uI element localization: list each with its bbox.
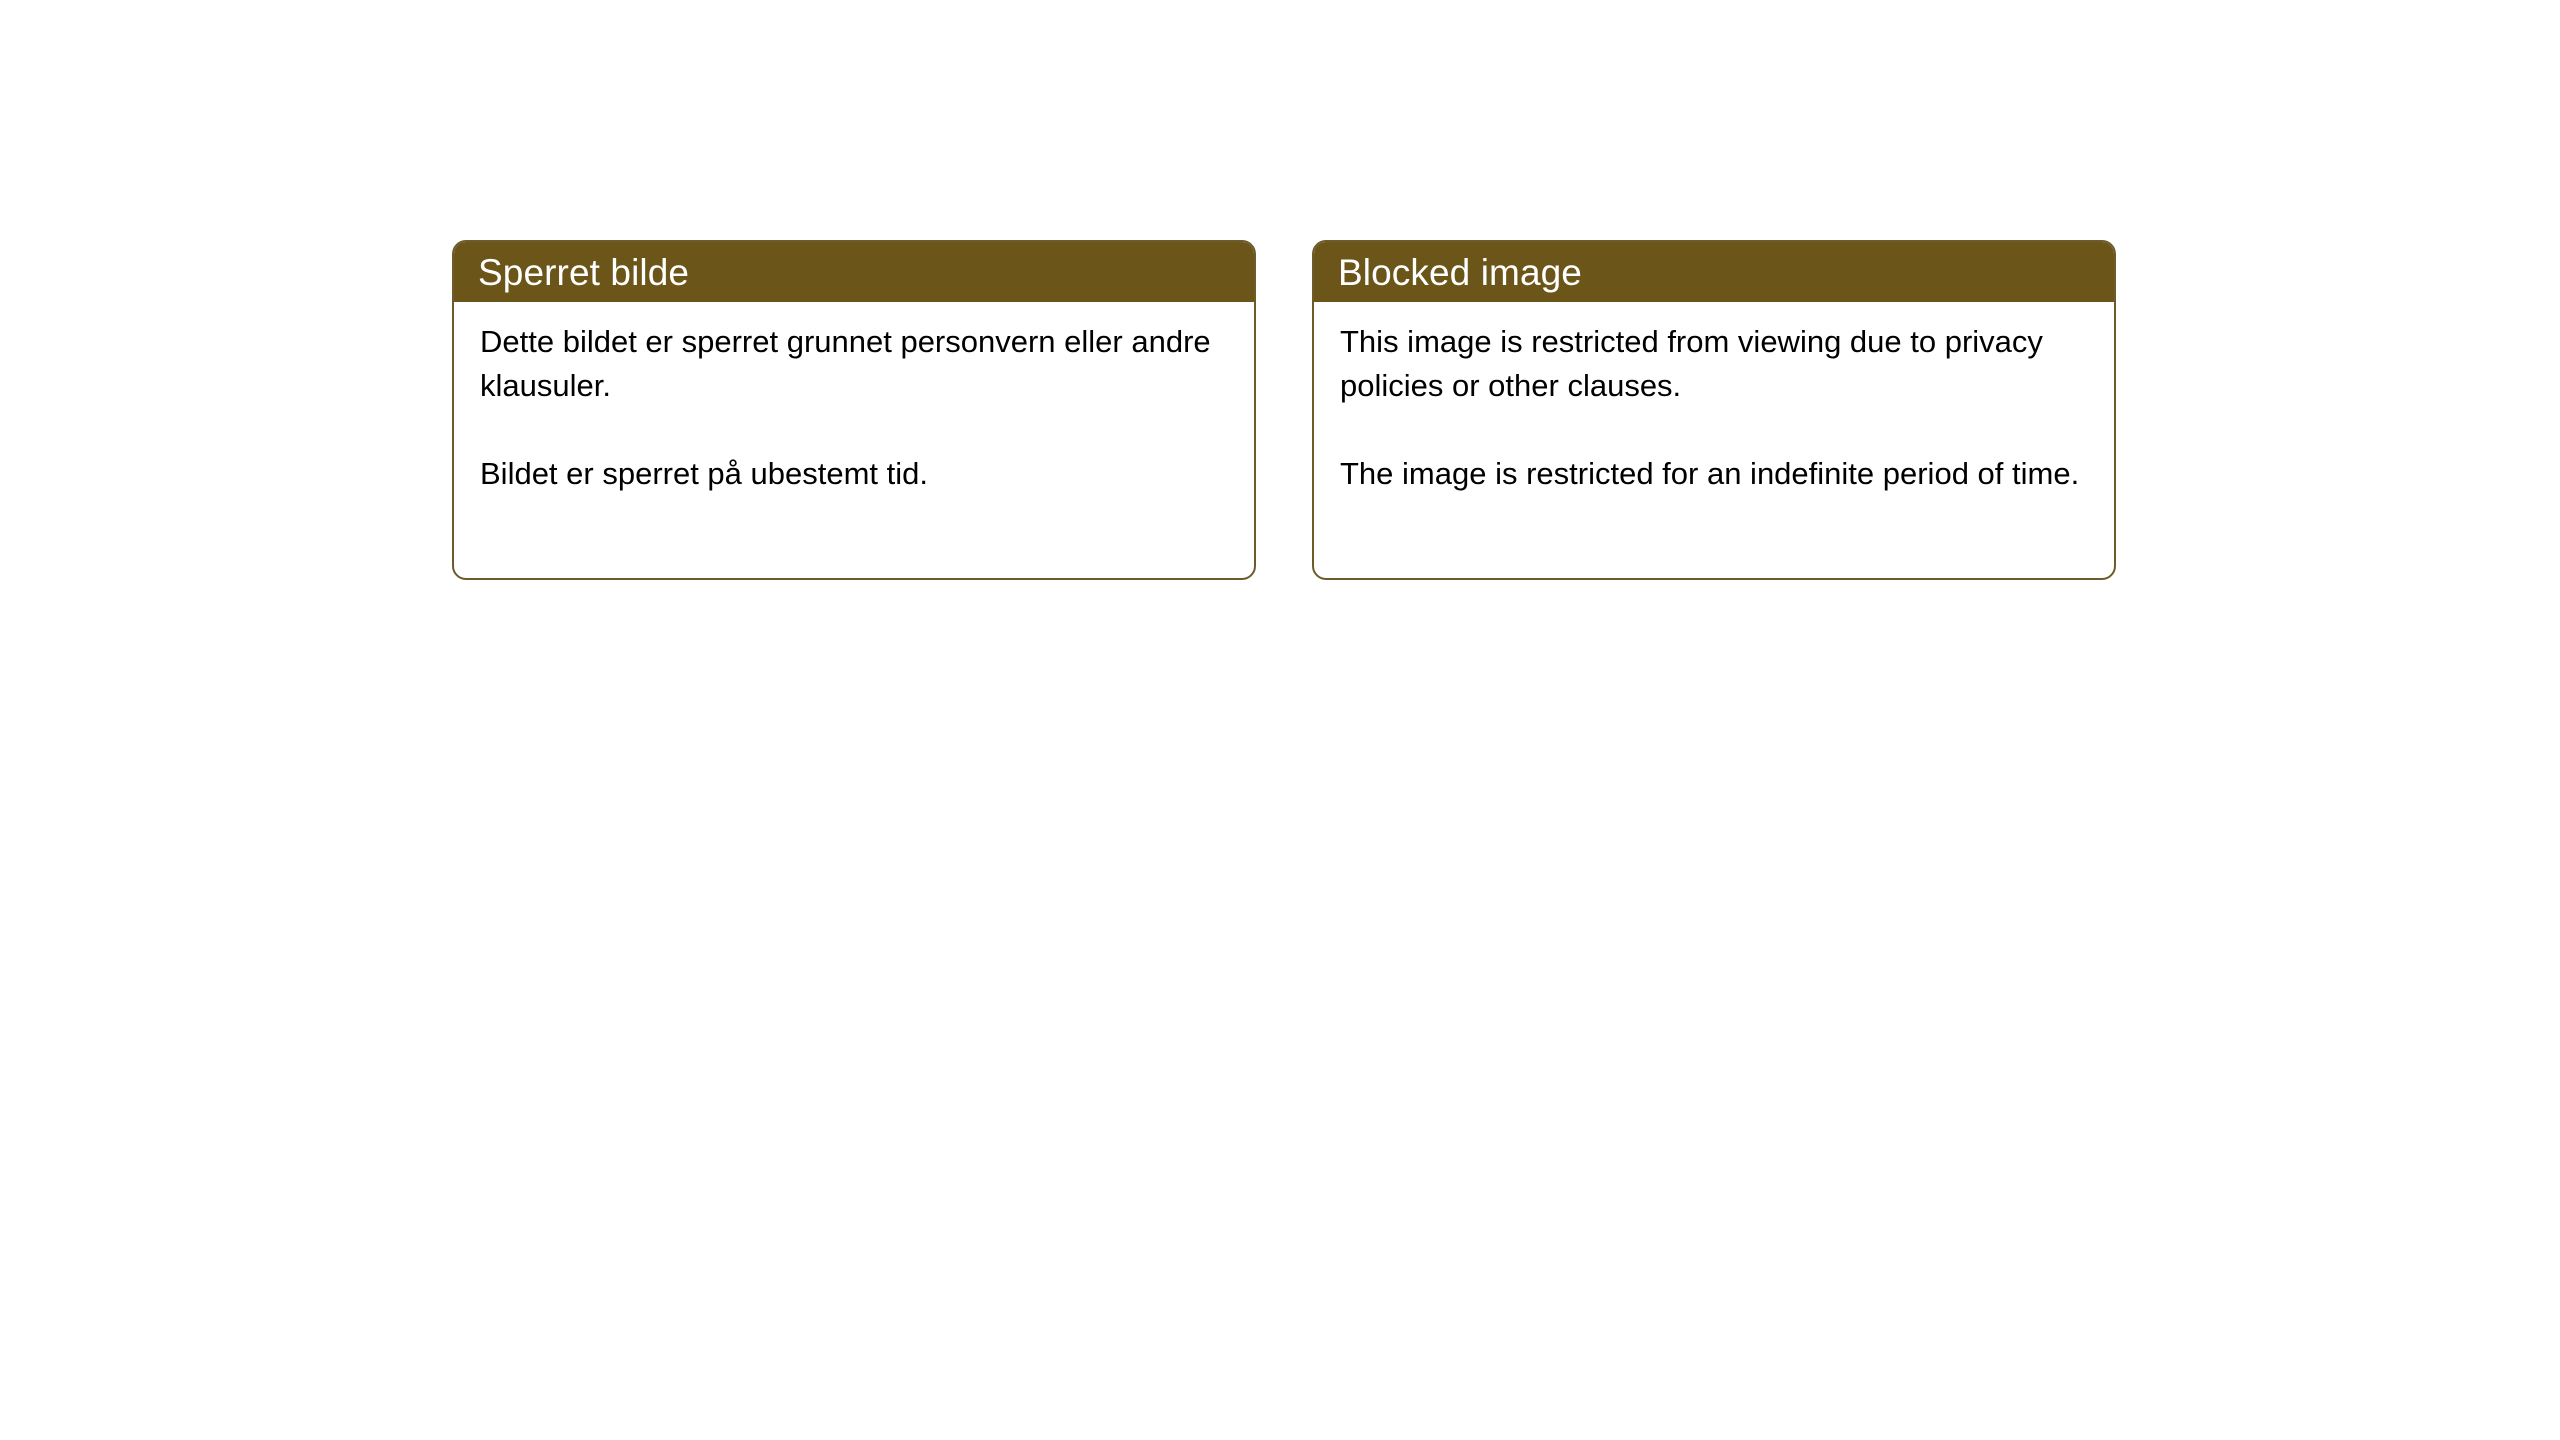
notice-header-norwegian: Sperret bilde (454, 242, 1254, 302)
notice-paragraph-duration-norwegian: Bildet er sperret på ubestemt tid. (480, 452, 1228, 496)
notice-title-english: Blocked image (1338, 254, 1582, 291)
notice-title-norwegian: Sperret bilde (478, 254, 689, 291)
notice-body-english: This image is restricted from viewing du… (1314, 302, 2114, 496)
blocked-image-notice-norwegian: Sperret bilde Dette bildet er sperret gr… (452, 240, 1256, 580)
page-root: Sperret bilde Dette bildet er sperret gr… (0, 0, 2560, 1440)
notice-paragraph-reason-norwegian: Dette bildet er sperret grunnet personve… (480, 320, 1228, 408)
notice-paragraph-duration-english: The image is restricted for an indefinit… (1340, 452, 2088, 496)
blocked-image-notice-english: Blocked image This image is restricted f… (1312, 240, 2116, 580)
notice-header-english: Blocked image (1314, 242, 2114, 302)
notice-paragraph-reason-english: This image is restricted from viewing du… (1340, 320, 2088, 408)
notice-body-norwegian: Dette bildet er sperret grunnet personve… (454, 302, 1254, 496)
